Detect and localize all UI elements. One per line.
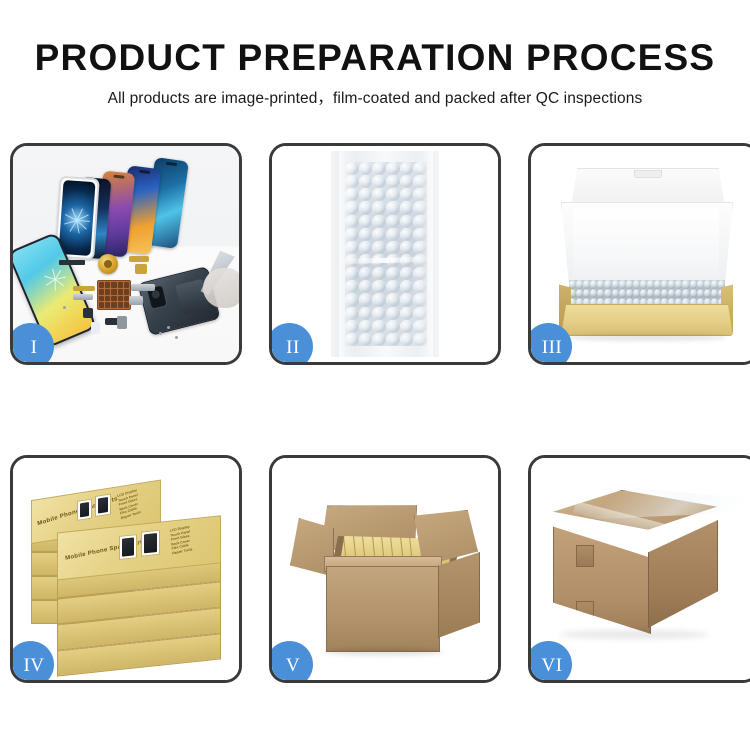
- phone-lineup: [57, 158, 207, 258]
- page-subtitle: All products are image-printed，film-coat…: [0, 80, 750, 109]
- metal-bracket-part: [129, 296, 143, 305]
- retail-box: [57, 642, 219, 666]
- product-window: [141, 530, 160, 557]
- step-5-image: V: [272, 458, 498, 680]
- product-window: [95, 493, 111, 517]
- pouch-highlight-right: [417, 151, 433, 357]
- open-shipping-carton: [296, 492, 478, 654]
- sealed-shipping-carton: [549, 490, 739, 656]
- step-panel-5: V: [269, 455, 501, 683]
- step-panel-3: III: [528, 143, 750, 365]
- bubble-wrap-texture: [345, 162, 427, 346]
- retail-box-feature-list: LCD Display Touch Panel Front Glass Back…: [170, 525, 193, 556]
- bubble-wrapped-contents: [569, 280, 725, 307]
- metal-bracket-part: [73, 294, 93, 300]
- carton-flap-tab: [576, 545, 594, 567]
- product-preparation-infographic: PRODUCT PREPARATION PROCESS All products…: [0, 0, 750, 750]
- foam-sheet: [573, 208, 719, 282]
- carton-side-face: [648, 520, 718, 628]
- screw-part: [175, 336, 178, 339]
- product-window: [119, 534, 137, 560]
- retail-box-stack: Mobile Phone Spare Parts LCD Display Tou…: [25, 472, 231, 668]
- bubble-wrap-pouch: [331, 151, 439, 357]
- mailer-lid: [571, 168, 725, 207]
- chip-array-part: [97, 280, 131, 310]
- ic-chip-part: [83, 308, 93, 318]
- page-title: PRODUCT PREPARATION PROCESS: [0, 0, 750, 80]
- step-1-image: I: [13, 146, 239, 362]
- phone-notch: [166, 162, 177, 167]
- small-component-part: [91, 322, 100, 334]
- step-panel-4: Mobile Phone Spare Parts LCD Display Tou…: [10, 455, 242, 683]
- drop-shadow: [567, 334, 727, 341]
- flex-cable-part: [135, 264, 147, 274]
- step-6-image: VI: [531, 458, 750, 680]
- flex-cable-part: [129, 256, 149, 262]
- phone-notch: [139, 170, 150, 174]
- mailer-front-wall: [561, 304, 733, 336]
- drop-shadow: [559, 630, 709, 639]
- carton-front-wall: [326, 566, 440, 652]
- pouch-highlight-left: [339, 151, 355, 357]
- metal-bracket-part: [131, 284, 155, 291]
- carton-right-wall: [438, 552, 480, 638]
- small-component-part: [117, 316, 127, 329]
- open-mailer-box: [553, 168, 739, 340]
- drop-shadow: [324, 648, 444, 656]
- header: PRODUCT PREPARATION PROCESS All products…: [0, 0, 750, 109]
- process-step-grid: I II: [10, 143, 740, 683]
- step-3-image: III: [531, 146, 750, 362]
- crack-pattern-icon: [63, 206, 91, 234]
- screw-part: [63, 306, 66, 309]
- mailer-lid-tab: [634, 170, 662, 178]
- earpiece-speaker-part: [59, 260, 85, 265]
- product-window: [77, 498, 92, 520]
- step-4-image: Mobile Phone Spare Parts LCD Display Tou…: [13, 458, 239, 680]
- phone-notch: [113, 175, 124, 179]
- carton-flap-tab: [576, 601, 594, 623]
- flex-cable-part: [73, 286, 95, 291]
- step-panel-6: VI: [528, 455, 750, 683]
- screw-part: [167, 326, 170, 329]
- copper-coil-part: [98, 254, 118, 274]
- screw-part: [159, 332, 162, 335]
- carton-front-face: [553, 522, 651, 634]
- technician-hand: [203, 268, 239, 308]
- step-panel-2: II: [269, 143, 501, 365]
- step-panel-1: I: [10, 143, 242, 365]
- crack-pattern-icon: [41, 265, 70, 294]
- step-2-image: II: [272, 146, 498, 362]
